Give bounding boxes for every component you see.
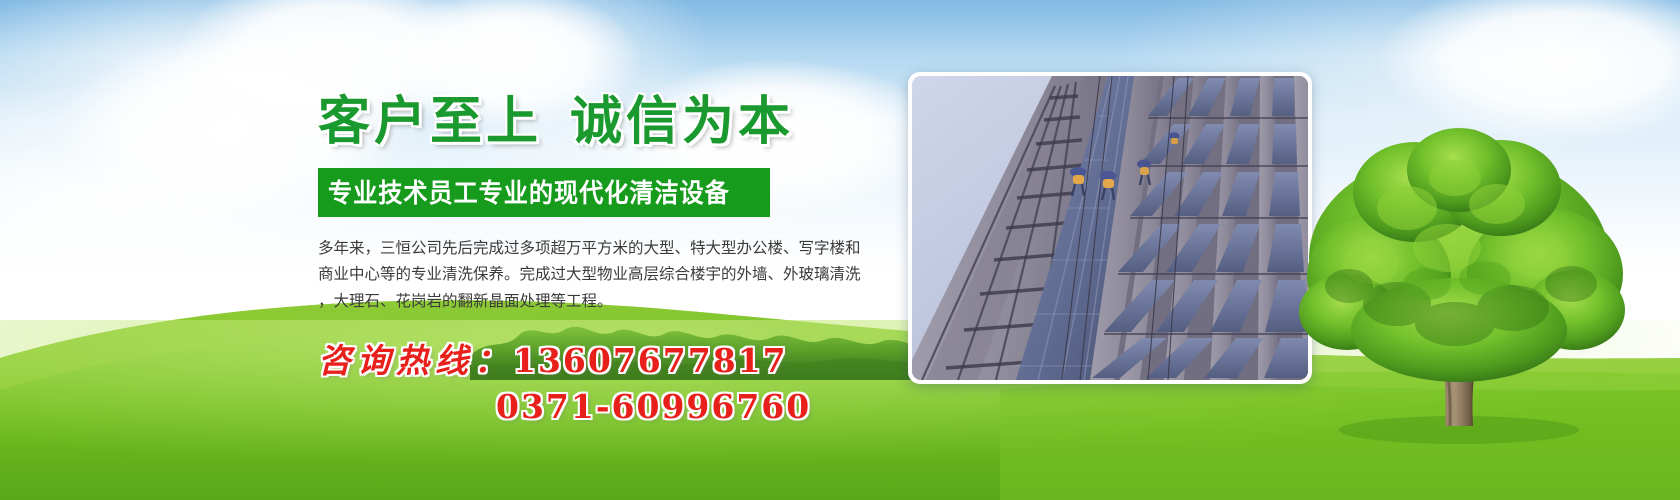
hotline-row-primary: 咨询热线：13607677817 [318,338,898,384]
hotline-mobile-number[interactable]: 13607677817 [513,341,788,380]
description-paragraph: 多年来，三恒公司先后完成过多项超万平方米的大型、特大型办公楼、写字楼和 商业中心… [318,236,883,316]
subtitle-text: 专业技术员工专业的现代化清洁设备 [328,173,730,210]
paragraph-line: ，大理石、花岗岩的翻新晶面处理等工程。 [318,289,883,316]
promotional-banner: 客户至上诚信为本 专业技术员工专业的现代化清洁设备 多年来，三恒公司先后完成过多… [0,0,1680,500]
hotline-row-secondary: 0371-60996760 [318,384,898,430]
hotline-label: 咨询热线： [318,341,513,380]
banner-copy: 客户至上诚信为本 专业技术员工专业的现代化清洁设备 多年来，三恒公司先后完成过多… [318,95,898,430]
hotline-landline-number[interactable]: 0371-60996760 [496,387,811,426]
cloud-puff [1380,0,1680,140]
paragraph-line: 多年来，三恒公司先后完成过多项超万平方米的大型、特大型办公楼、写字楼和 [318,236,883,263]
paragraph-line: 商业中心等的专业清洗保养。完成过大型物业高层综合楼宇的外墙、外玻璃清洗 [318,262,883,289]
hotline-block: 咨询热线：13607677817 0371-60996760 [318,338,898,430]
tree-illustration [1287,108,1632,448]
page-title: 客户至上诚信为本 [318,95,898,150]
subtitle-bar: 专业技术员工专业的现代化清洁设备 [318,168,770,217]
headline-part-2: 诚信为本 [570,91,794,152]
building-photo [912,76,1308,380]
building-photo-frame [908,72,1312,384]
headline-part-1: 客户至上 [318,91,542,152]
